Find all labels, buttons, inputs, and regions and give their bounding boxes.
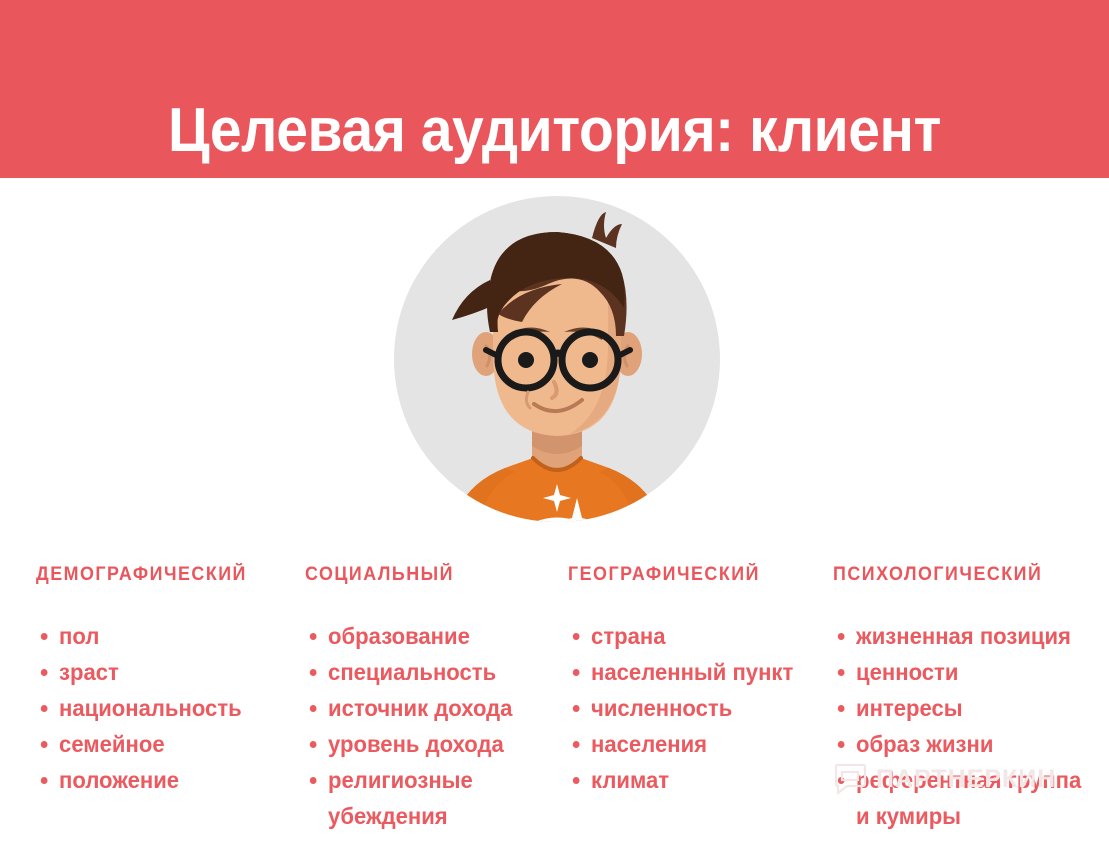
bullet-icon [838,669,845,676]
header-banner: Целевая аудитория: клиент [0,0,1109,178]
bullet-icon [573,633,580,640]
bullet-icon [41,669,48,676]
list-item-label: населенный пункт [591,659,793,685]
bullet-icon [573,741,580,748]
column-heading: ГЕОГРАФИЧЕСКИЙ [568,565,811,584]
list-item-label: источник дохода [328,695,512,721]
list-item-label: уровень дохода [328,731,504,757]
page-title: Целевая аудитория: клиент [44,42,1064,220]
bullet-icon [41,705,48,712]
segmentation-columns: ДЕМОГРАФИЧЕСКИЙ пол зраст национальность… [0,565,1109,861]
column-list: страна населенный пункт численность насе… [568,618,826,798]
list-item-label: референтная группа и кумиры [856,767,1081,829]
list-item-label: образование [328,623,470,649]
list-item: образование [305,618,553,654]
list-item-label: национальность [59,695,242,721]
list-item: зраст [36,654,288,690]
list-item: интересы [833,690,1085,726]
bullet-icon [310,633,317,640]
list-item: образ жизни [833,726,1085,762]
list-item: семейное [36,726,288,762]
list-item-label: численность [591,695,732,721]
list-item-label: религиозные убеждения [328,767,473,829]
infographic-page: Целевая аудитория: клиент [0,0,1109,861]
list-item: уровень дохода [305,726,553,762]
avatar-eye-right [582,352,598,368]
bullet-icon [573,669,580,676]
list-item: климат [568,762,816,798]
list-item-label: образ жизни [856,731,993,757]
list-item: населения [568,726,816,762]
list-item: пол [36,618,288,654]
list-item-label: зраст [59,659,119,685]
list-item: положение [36,762,288,798]
avatar-eye-left [518,352,534,368]
list-item-label: страна [591,623,665,649]
client-avatar-illustration: SPACE [394,196,720,536]
list-item-label: пол [59,623,99,649]
column-list: жизненная позиция ценности интересы обра… [833,618,1095,834]
column-social: СОЦИАЛЬНЫЙ образование специальность ист… [305,565,563,834]
bullet-icon [310,777,317,784]
list-item-label: интересы [856,695,963,721]
bullet-icon [41,741,48,748]
bullet-icon [573,777,580,784]
list-item: специальность [305,654,553,690]
column-list: пол зраст национальность семейное положе… [36,618,298,798]
list-item: религиозные убеждения [305,762,553,834]
bullet-icon [838,741,845,748]
list-item: страна [568,618,816,654]
avatar-shirt-arc [512,522,602,537]
list-item: жизненная позиция [833,618,1085,654]
list-item: национальность [36,690,288,726]
bullet-icon [310,669,317,676]
list-item-label: семейное [59,731,165,757]
column-psychological: ПСИХОЛОГИЧЕСКИЙ жизненная позиция ценнос… [833,565,1095,834]
bullet-icon [838,633,845,640]
list-item-label: ценности [856,659,958,685]
list-item-label: положение [59,767,179,793]
list-item: населенный пункт [568,654,816,690]
column-list: образование специальность источник доход… [305,618,563,834]
column-heading: СОЦИАЛЬНЫЙ [305,565,548,584]
bullet-icon [41,633,48,640]
list-item-label: климат [591,767,669,793]
column-heading: ПСИХОЛОГИЧЕСКИЙ [833,565,1079,584]
column-heading: ДЕМОГРАФИЧЕСКИЙ [36,565,282,584]
list-item-label: специальность [328,659,496,685]
column-geographic: ГЕОГРАФИЧЕСКИЙ страна населенный пункт ч… [568,565,826,798]
bullet-icon [41,777,48,784]
bullet-icon [573,705,580,712]
bullet-icon [838,777,845,784]
list-item: ценности [833,654,1085,690]
list-item: численность [568,690,816,726]
list-item: источник дохода [305,690,553,726]
list-item: референтная группа и кумиры [833,762,1085,834]
bullet-icon [310,705,317,712]
bullet-icon [310,741,317,748]
bullet-icon [838,705,845,712]
list-item-label: жизненная позиция [856,623,1071,649]
list-item-label: населения [591,731,707,757]
column-demographic: ДЕМОГРАФИЧЕСКИЙ пол зраст национальность… [36,565,298,798]
